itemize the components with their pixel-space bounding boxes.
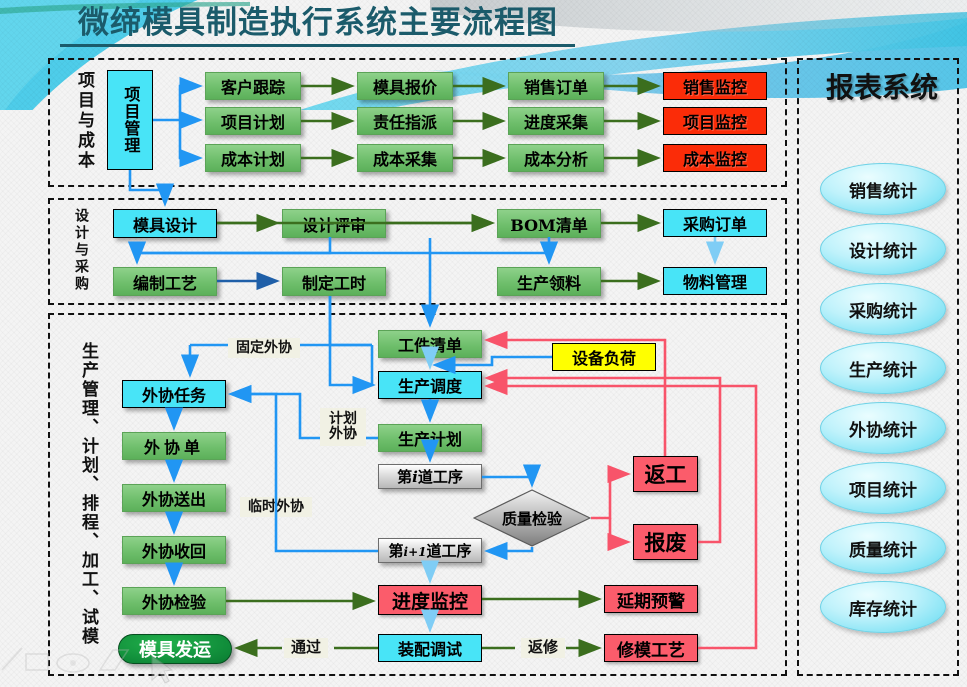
node-cost-plan[interactable]: 成本计划 — [205, 144, 301, 172]
report-item-inventory[interactable]: 库存统计 — [820, 581, 946, 633]
node-progress-monitor[interactable]: 进度监控 — [378, 585, 482, 615]
node-delay-alert[interactable]: 延期预警 — [604, 585, 698, 613]
prefix: 第 — [389, 540, 404, 561]
suffix: 道工序 — [418, 466, 463, 487]
node-label: 外协收回 — [142, 538, 206, 562]
report-item-label: 库存统计 — [849, 595, 917, 620]
node-label: 进度采集 — [524, 109, 588, 133]
node-outsource-receive[interactable]: 外协收回 — [122, 536, 226, 564]
node-label: 销售订单 — [524, 74, 588, 98]
suffix: 道工序 — [426, 540, 471, 561]
node-label: 外协检验 — [142, 589, 206, 613]
node-purchase-order[interactable]: 采购订单 — [663, 209, 767, 237]
node-label: 生产领料 — [517, 270, 581, 294]
node-label: 返工 — [645, 459, 687, 489]
node-project-management[interactable]: 项目管理 — [107, 70, 153, 170]
report-item-label: 外协统计 — [849, 416, 917, 441]
node-mold-quotation[interactable]: 模具报价 — [357, 72, 453, 100]
report-item-quality[interactable]: 质量统计 — [820, 522, 946, 574]
index: i+1 — [404, 545, 427, 559]
report-item-label: 项目统计 — [849, 476, 917, 501]
edge-label-temp-outsource: 临时外协 — [240, 497, 312, 517]
node-label: 延期预警 — [617, 587, 685, 612]
node-rework[interactable]: 返工 — [633, 456, 698, 492]
edge-label-plan-outsource: 计划 外协 — [320, 408, 366, 446]
node-bom-list[interactable]: BOM清单 — [497, 209, 601, 238]
node-production-picking[interactable]: 生产领料 — [497, 267, 601, 296]
edge-label-text: 固定外协 — [236, 341, 292, 356]
node-workpiece-list[interactable]: 工件清单 — [378, 330, 482, 358]
node-label: 成本计划 — [221, 146, 285, 170]
edge-label-text: 返修 — [528, 640, 558, 656]
node-design-review[interactable]: 设计评审 — [282, 209, 386, 238]
node-equipment-load[interactable]: 设备负荷 — [552, 343, 656, 371]
node-label: 项目管理 — [122, 86, 139, 154]
node-label: 生产计划 — [398, 426, 462, 450]
node-label: 责任指派 — [373, 109, 437, 133]
node-production-plan[interactable]: 生产计划 — [378, 424, 482, 452]
node-label: 外协单 — [144, 434, 204, 458]
node-label: 外协任务 — [142, 382, 206, 406]
report-item-project[interactable]: 项目统计 — [820, 462, 946, 514]
node-label: 模具发运 — [139, 636, 211, 662]
node-mold-shipment[interactable]: 模具发运 — [118, 634, 232, 664]
node-repair-mold-process[interactable]: 修模工艺 — [604, 634, 698, 662]
node-cost-collect[interactable]: 成本采集 — [357, 144, 453, 172]
title-underline — [60, 44, 575, 47]
report-item-label: 质量统计 — [849, 536, 917, 561]
node-outsource-inspect[interactable]: 外协检验 — [122, 587, 226, 615]
node-label: 编制工艺 — [133, 270, 197, 294]
node-label: 成本分析 — [524, 146, 588, 170]
node-label: 设备负荷 — [572, 345, 636, 369]
node-progress-collect[interactable]: 进度采集 — [508, 107, 604, 135]
node-quality-inspection[interactable]: 质量检验 — [473, 489, 591, 547]
edge-label-text: 通过 — [291, 640, 321, 656]
group-label-design-purchase: 设计与采购 — [60, 206, 88, 294]
node-label: 进度监控 — [392, 587, 468, 614]
node-label: 报废 — [645, 527, 687, 557]
report-item-outsource[interactable]: 外协统计 — [820, 402, 946, 454]
report-item-label: 生产统计 — [849, 356, 917, 381]
node-sales-monitor[interactable]: 销售监控 — [663, 72, 767, 100]
report-system-title: 报表系统 — [812, 62, 952, 110]
node-outsource-order[interactable]: 外协单 — [122, 432, 226, 460]
node-label: 工件清单 — [398, 332, 462, 356]
node-outsource-task[interactable]: 外协任务 — [122, 380, 226, 408]
node-label: 质量检验 — [473, 489, 591, 547]
node-label: 生产调度 — [398, 373, 462, 397]
page-title: 微缔模具制造执行系统主要流程图 — [78, 2, 598, 46]
edge-label-fixed-outsource: 固定外协 — [228, 338, 300, 358]
edge-label-text: 临时外协 — [248, 500, 304, 515]
node-label: 第i道工序 — [397, 466, 463, 487]
node-label: 客户跟踪 — [221, 74, 285, 98]
node-mold-design[interactable]: 模具设计 — [113, 209, 217, 238]
report-item-design[interactable]: 设计统计 — [820, 223, 946, 275]
node-label: 成本监控 — [683, 146, 747, 170]
edge-label-text-line1: 计划 — [329, 412, 357, 427]
report-item-label: 销售统计 — [849, 177, 917, 202]
node-label: 设计评审 — [302, 212, 366, 236]
group-label-project-cost: 项目与成本 — [58, 64, 92, 178]
node-sales-order[interactable]: 销售订单 — [508, 72, 604, 100]
node-customer-tracking[interactable]: 客户跟踪 — [205, 72, 301, 100]
node-label: 模具报价 — [373, 74, 437, 98]
edge-label-pass: 通过 — [284, 638, 328, 658]
report-item-label: 设计统计 — [849, 237, 917, 262]
node-label: 外协送出 — [142, 486, 206, 510]
node-assembly-debug[interactable]: 装配调试 — [378, 634, 482, 662]
node-outsource-send[interactable]: 外协送出 — [122, 484, 226, 512]
node-label: 装配调试 — [398, 636, 462, 660]
report-item-production[interactable]: 生产统计 — [820, 342, 946, 394]
node-label: 制定工时 — [302, 270, 366, 294]
prefix: 第 — [397, 466, 412, 487]
node-process-step-i-plus-1[interactable]: 第i+1道工序 — [378, 538, 482, 563]
node-label: 项目计划 — [221, 109, 285, 133]
node-label: 物料管理 — [683, 269, 747, 293]
node-cost-monitor[interactable]: 成本监控 — [663, 144, 767, 172]
node-label: 模具设计 — [133, 212, 197, 236]
node-project-monitor[interactable]: 项目监控 — [663, 107, 767, 135]
node-label: 第i+1道工序 — [389, 540, 472, 561]
node-label: 销售监控 — [683, 74, 747, 98]
node-project-plan[interactable]: 项目计划 — [205, 107, 301, 135]
edge-label-repair: 返修 — [521, 638, 565, 658]
node-cost-analysis[interactable]: 成本分析 — [508, 144, 604, 172]
node-process-planning[interactable]: 编制工艺 — [113, 267, 217, 296]
node-label: BOM清单 — [510, 212, 587, 236]
group-label-production: 生产管理、计划、排程、加工、试模 — [62, 322, 96, 666]
node-work-hour-setting[interactable]: 制定工时 — [282, 267, 386, 296]
node-label: 项目监控 — [683, 109, 747, 133]
node-process-step-i[interactable]: 第i道工序 — [378, 464, 482, 489]
edge-label-text-line2: 外协 — [329, 427, 357, 442]
node-label: 采购订单 — [683, 211, 747, 235]
report-item-label: 采购统计 — [849, 297, 917, 322]
node-label: 成本采集 — [373, 146, 437, 170]
node-production-scheduling[interactable]: 生产调度 — [378, 371, 482, 399]
node-scrap[interactable]: 报废 — [633, 524, 698, 560]
node-material-management[interactable]: 物料管理 — [663, 267, 767, 295]
report-item-sales[interactable]: 销售统计 — [820, 163, 946, 215]
node-label: 修模工艺 — [617, 636, 685, 661]
report-item-purchase[interactable]: 采购统计 — [820, 283, 946, 335]
node-responsibility-assign[interactable]: 责任指派 — [357, 107, 453, 135]
flowchart-canvas: 微缔模具制造执行系统主要流程图 项目与成本 设计与采购 生产管理、计划、排程、加… — [0, 0, 967, 687]
